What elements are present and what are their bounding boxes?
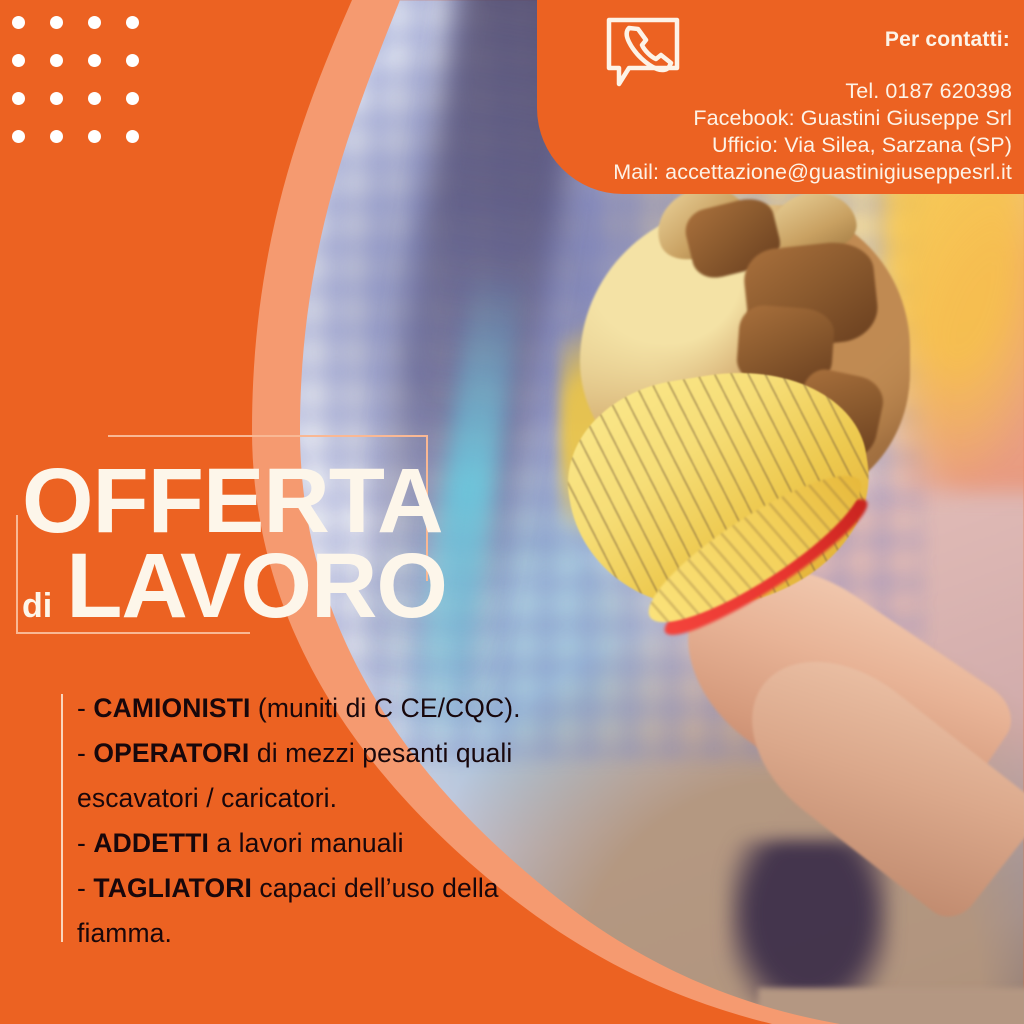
job-detail: a lavori manuali xyxy=(209,828,404,858)
dot xyxy=(12,92,25,105)
dot xyxy=(50,16,63,29)
title-frame-left-line xyxy=(16,515,18,634)
contact-line-facebook: Facebook: Guastini Giuseppe Srl xyxy=(613,105,1012,132)
dot xyxy=(126,54,139,67)
contact-details: Tel. 0187 620398 Facebook: Guastini Gius… xyxy=(613,78,1012,186)
job-dash: - xyxy=(77,873,93,903)
contact-line-ufficio: Ufficio: Via Silea, Sarzana (SP) xyxy=(613,132,1012,159)
dot xyxy=(126,92,139,105)
dot xyxy=(12,16,25,29)
dot xyxy=(50,92,63,105)
decorative-dot-grid xyxy=(12,16,164,168)
dot xyxy=(12,54,25,67)
title-second-row: di LAVORO xyxy=(22,540,447,632)
job-role: CAMIONISTI xyxy=(93,693,250,723)
list-item: - OPERATORI di mezzi pesanti quali escav… xyxy=(77,731,547,821)
title-frame-top-line xyxy=(108,435,428,437)
list-item: - CAMIONISTI (muniti di C CE/CQC). xyxy=(77,686,547,731)
job-dash: - xyxy=(77,828,93,858)
dot xyxy=(88,130,101,143)
dot xyxy=(12,130,25,143)
job-role: OPERATORI xyxy=(93,738,249,768)
contact-heading: Per contatti: xyxy=(885,28,1010,52)
job-list-rule xyxy=(61,694,63,942)
job-dash: - xyxy=(77,738,93,768)
dot xyxy=(50,130,63,143)
dot xyxy=(88,16,101,29)
dot xyxy=(88,54,101,67)
title-offerta: OFFERTA xyxy=(22,455,443,547)
list-item: - ADDETTI a lavori manuali xyxy=(77,821,547,866)
contact-line-tel: Tel. 0187 620398 xyxy=(613,78,1012,105)
dot xyxy=(126,16,139,29)
dot xyxy=(126,130,139,143)
job-role: TAGLIATORI xyxy=(93,873,252,903)
dot xyxy=(50,54,63,67)
title-di: di xyxy=(22,587,52,626)
job-role: ADDETTI xyxy=(93,828,209,858)
title-lavoro: LAVORO xyxy=(66,540,447,632)
dot xyxy=(88,92,101,105)
job-detail: (muniti di C CE/CQC). xyxy=(250,693,520,723)
job-offer-poster: Per contatti: Tel. 0187 620398 Facebook:… xyxy=(0,0,1024,1024)
job-dash: - xyxy=(77,693,93,723)
list-item: - TAGLIATORI capaci dell’uso della fiamm… xyxy=(77,866,547,956)
job-list: - CAMIONISTI (muniti di C CE/CQC). - OPE… xyxy=(77,686,547,956)
contact-line-mail: Mail: accettazione@guastinigiuseppesrl.i… xyxy=(613,159,1012,186)
